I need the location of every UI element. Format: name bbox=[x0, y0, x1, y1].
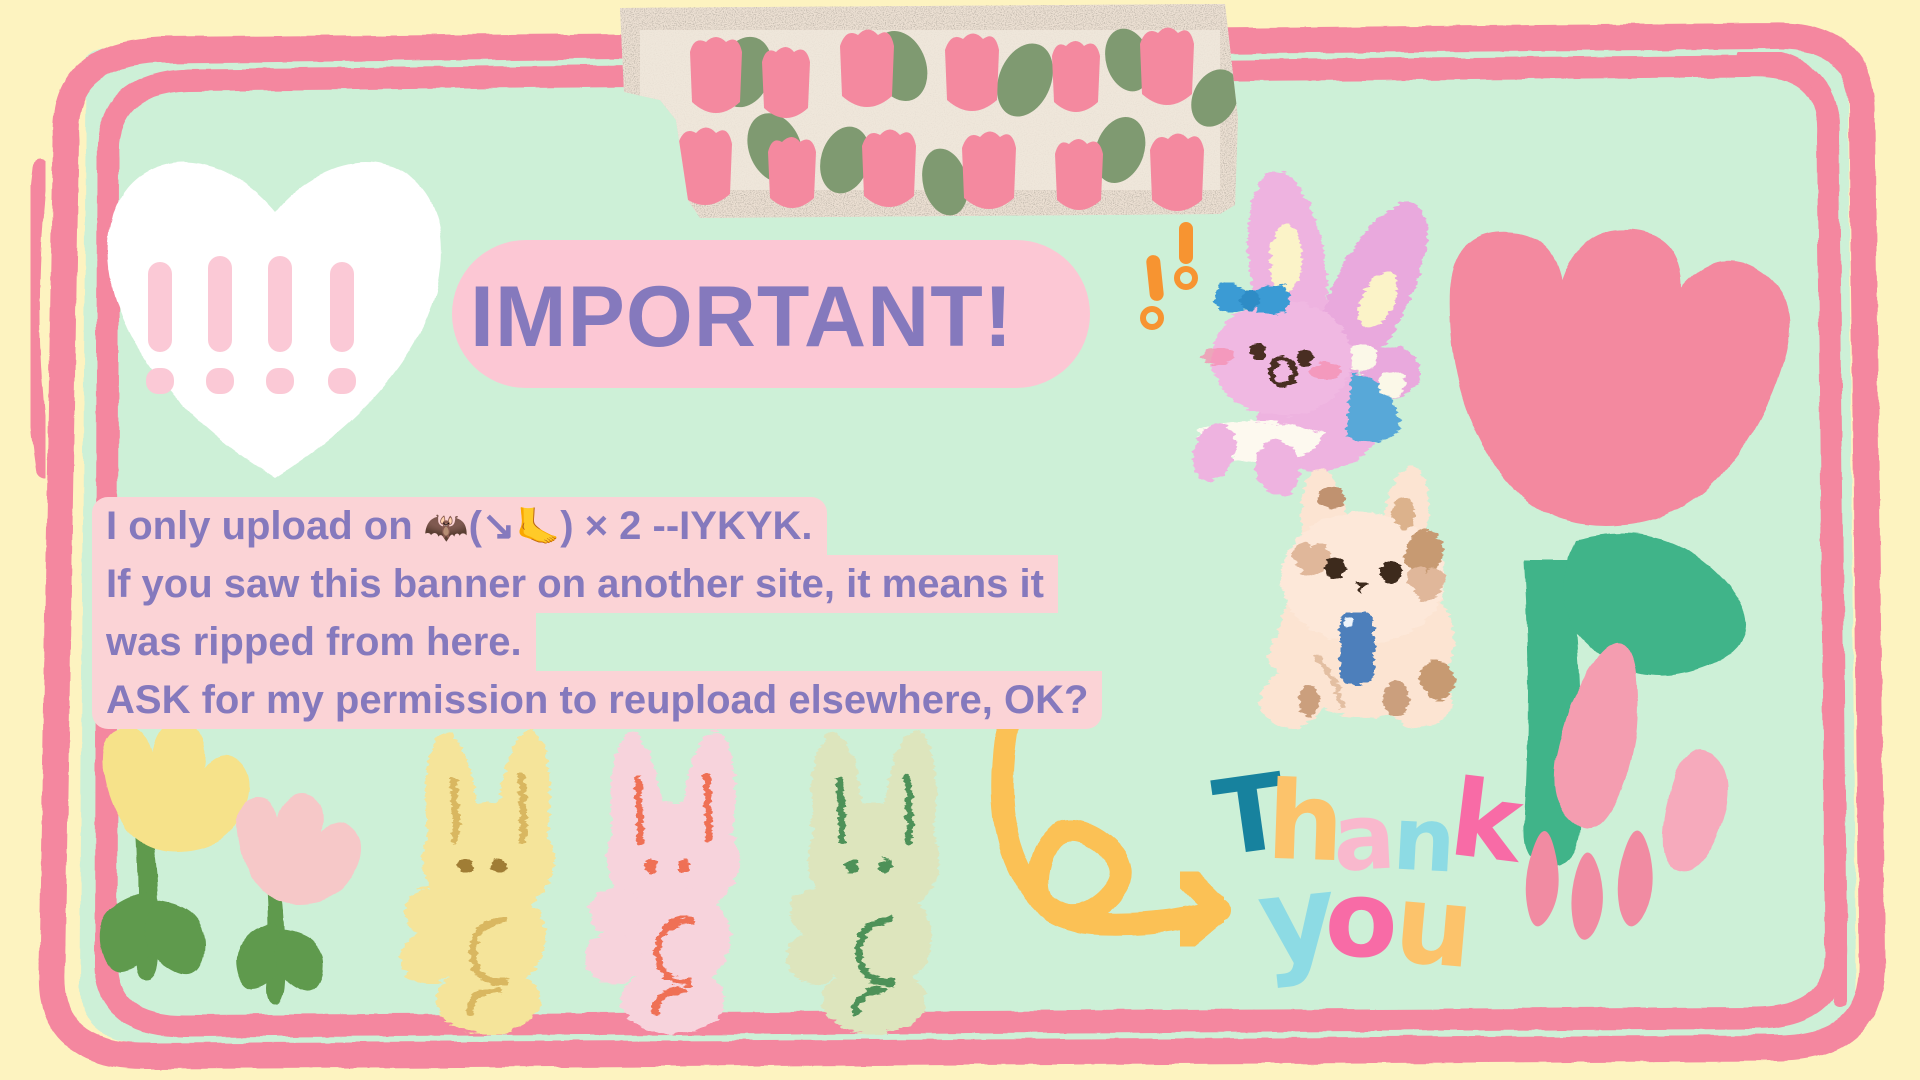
banner-canvas: IMPORTANT! I only upload on 🦇(↘🦶) × 2 --… bbox=[0, 0, 1920, 1080]
washi-tape bbox=[600, 0, 1260, 230]
banner-artwork bbox=[0, 0, 1920, 1080]
